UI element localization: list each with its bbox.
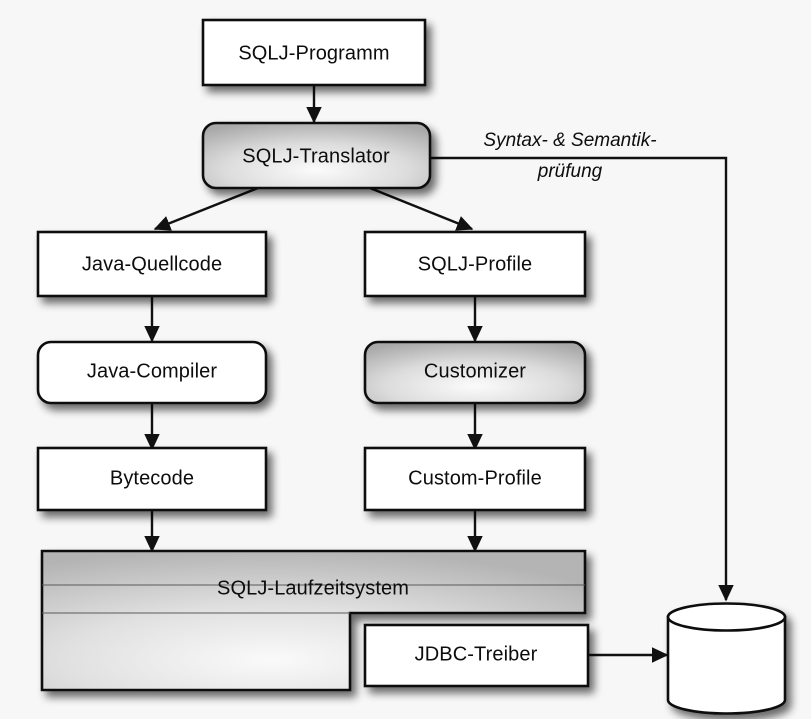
sqlj-translator-label: SQLJ-Translator xyxy=(242,145,390,167)
java-compiler-label: Java-Compiler xyxy=(87,360,217,382)
syntax-check-line2: prüfung xyxy=(537,161,603,182)
node-datenbank[interactable] xyxy=(668,604,785,714)
sqlj-programm-label: SQLJ-Programm xyxy=(238,42,389,64)
edge-translator-to-profile xyxy=(370,188,472,229)
sqlj-profile-label: SQLJ-Profile xyxy=(418,253,533,275)
bytecode-label: Bytecode xyxy=(110,467,194,489)
customizer-label: Customizer xyxy=(424,360,526,382)
node-jdbc-treiber[interactable]: JDBC-Treiber xyxy=(365,625,588,686)
custom-profile-label: Custom-Profile xyxy=(408,467,542,489)
diagram-canvas: SQLJ-Programm SQLJ-Translator Java-Quell… xyxy=(0,0,811,719)
jdbc-treiber-label: JDBC-Treiber xyxy=(415,643,538,665)
node-java-compiler[interactable]: Java-Compiler xyxy=(38,342,266,403)
node-bytecode[interactable]: Bytecode xyxy=(38,448,266,510)
datenbank-cylinder-top xyxy=(668,604,785,631)
node-customizer[interactable]: Customizer xyxy=(365,342,585,403)
edge-translator-to-quellcode xyxy=(155,188,258,229)
java-quellcode-label: Java-Quellcode xyxy=(82,253,222,275)
node-sqlj-programm[interactable]: SQLJ-Programm xyxy=(203,20,425,85)
sqlj-laufzeitsystem-label: SQLJ-Laufzeitsystem xyxy=(217,577,409,599)
edge-annotation-syntax-check: Syntax- & Semantik- prüfung xyxy=(483,130,656,182)
node-java-quellcode[interactable]: Java-Quellcode xyxy=(38,232,266,296)
node-custom-profile[interactable]: Custom-Profile xyxy=(365,448,585,510)
sqlj-architecture-diagram: SQLJ-Programm SQLJ-Translator Java-Quell… xyxy=(0,0,811,719)
node-sqlj-translator[interactable]: SQLJ-Translator xyxy=(203,123,430,188)
node-sqlj-profile[interactable]: SQLJ-Profile xyxy=(365,232,585,296)
syntax-check-line1: Syntax- & Semantik- xyxy=(483,130,656,151)
